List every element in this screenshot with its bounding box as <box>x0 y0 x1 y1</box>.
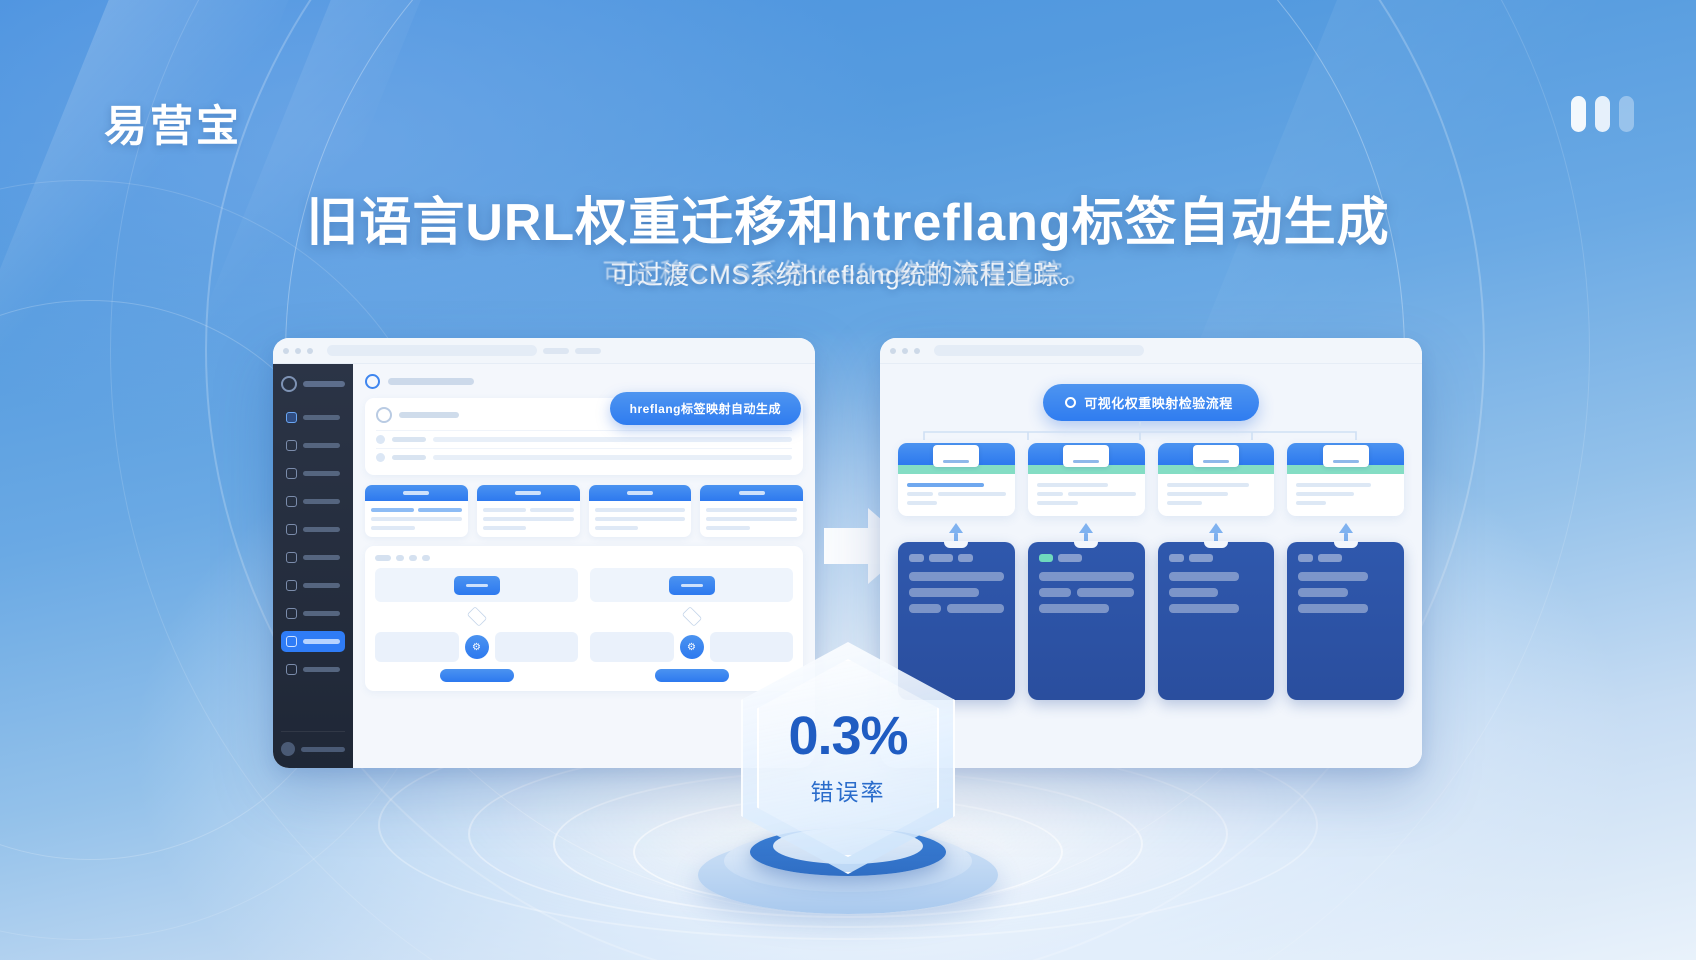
toolbar-placeholder <box>543 348 569 354</box>
row-status-icon <box>376 453 385 462</box>
window-dot-icon <box>295 348 301 354</box>
page-subtitle-ghost: 可迁移CMS系统ttrefte统的流程追踪。 <box>0 253 1696 290</box>
panel-row <box>376 448 792 466</box>
status-badge <box>1169 554 1184 562</box>
right-window-body: 可视化权重映射检验流程 <box>880 364 1422 768</box>
flow-header <box>375 555 793 561</box>
card-notch <box>944 541 968 548</box>
chart-icon <box>286 608 297 619</box>
card-body <box>700 501 803 537</box>
kanban-bottom-card[interactable] <box>1028 542 1145 700</box>
page-title: 旧语言URL权重迁移和htreflang标签自动生成 <box>0 180 1696 255</box>
kanban-column <box>1287 443 1404 700</box>
toolbar-placeholder <box>575 348 601 354</box>
sidebar-item-rules[interactable] <box>281 519 345 540</box>
card-tags <box>1298 554 1393 562</box>
card-header <box>477 485 580 501</box>
rules-icon <box>286 524 297 535</box>
flow-action-pill[interactable] <box>440 669 514 682</box>
section-icon <box>365 374 380 389</box>
sidebar-item-label <box>303 527 340 532</box>
window-title-bar <box>880 338 1422 364</box>
status-badge <box>1298 554 1313 562</box>
kanban-top-card[interactable] <box>1287 443 1404 516</box>
status-badge <box>1058 554 1082 562</box>
status-badge <box>909 554 924 562</box>
card-header <box>589 485 692 501</box>
card-line <box>1298 572 1368 581</box>
link-icon <box>286 468 297 479</box>
window-dot-icon <box>283 348 289 354</box>
panel-icon <box>376 407 392 423</box>
sidebar-item-sync[interactable] <box>281 547 345 568</box>
flow-columns: ⚙ ⚙ <box>375 568 793 682</box>
card-thumbnail-icon <box>1193 445 1239 467</box>
arrow-up-icon <box>1339 523 1353 533</box>
sidebar-brand <box>281 376 345 392</box>
flow-panel: ⚙ ⚙ <box>365 546 803 691</box>
indicator-pill <box>1619 96 1634 132</box>
card-notch <box>1074 541 1098 548</box>
kanban-connector <box>910 422 1370 440</box>
circle-check-icon <box>1065 397 1076 408</box>
site-card[interactable] <box>365 485 468 537</box>
flow-node[interactable] <box>669 576 715 595</box>
metric-label: 错误率 <box>811 773 886 807</box>
kanban-column <box>1158 443 1275 700</box>
card-thumbnail-icon <box>1063 445 1109 467</box>
status-badge <box>958 554 973 562</box>
address-bar[interactable] <box>327 345 537 356</box>
sidebar-user[interactable] <box>281 731 345 756</box>
arrow-up-icon <box>1209 523 1223 533</box>
right-browser-window: 可视化权重映射检验流程 <box>880 338 1422 768</box>
sidebar-brand-label <box>303 381 345 387</box>
process-circle-icon: ⚙ <box>680 635 704 659</box>
left-browser-window: hreflang标签映射自动生成 <box>273 338 815 768</box>
sidebar-item-sites[interactable] <box>281 435 345 456</box>
right-feature-pill-label: 可视化权重映射检验流程 <box>1084 393 1233 412</box>
panel-title <box>399 412 459 418</box>
sidebar-item-reports[interactable] <box>281 603 345 624</box>
window-dot-icon <box>902 348 908 354</box>
process-circle-icon: ⚙ <box>465 635 489 659</box>
card-body <box>477 501 580 537</box>
sidebar-item-label <box>303 471 340 476</box>
sync-icon <box>286 552 297 563</box>
main-heading-row <box>365 374 803 389</box>
panel-row <box>376 430 792 448</box>
flow-box <box>495 632 579 662</box>
row-key <box>392 437 426 442</box>
flow-column-left: ⚙ <box>375 568 578 682</box>
sidebar-item-label <box>303 555 340 560</box>
kanban-column <box>898 443 1015 700</box>
sidebar-item-label <box>303 499 340 504</box>
row-status-icon <box>376 435 385 444</box>
gear-icon <box>286 664 297 675</box>
page-subtitle: 可迁移CMS系统ttrefte统的流程追踪。 可过渡CMS系统hreflang统… <box>0 255 1696 292</box>
sidebar-item-logs[interactable] <box>281 575 345 596</box>
card-line <box>1298 588 1347 597</box>
status-badge <box>1039 554 1053 562</box>
address-bar[interactable] <box>934 345 1144 356</box>
sidebar-item-label <box>303 583 340 588</box>
flow-band <box>375 568 578 602</box>
sidebar-item-tag-mapping[interactable] <box>281 491 345 512</box>
card-line <box>1169 572 1239 581</box>
status-badge <box>929 554 953 562</box>
card-tags <box>1169 554 1264 562</box>
card-thumbnail-icon <box>1323 445 1369 467</box>
site-card-row <box>365 485 803 537</box>
left-feature-pill: hreflang标签映射自动生成 <box>610 392 801 425</box>
kanban-top-card[interactable] <box>1028 443 1145 516</box>
window-dot-icon <box>890 348 896 354</box>
right-feature-pill: 可视化权重映射检验流程 <box>1043 384 1259 421</box>
brand-mark-icon <box>281 376 297 392</box>
sidebar-item-label <box>303 415 340 420</box>
tag-icon <box>286 496 297 507</box>
site-card[interactable] <box>589 485 692 537</box>
corner-indicator <box>1571 96 1634 132</box>
flow-bottom-row: ⚙ <box>375 632 578 662</box>
kanban-bottom-card[interactable] <box>1158 542 1275 700</box>
flow-icon <box>286 636 297 647</box>
sidebar-item-label <box>303 667 340 672</box>
card-header <box>365 485 468 501</box>
row-value <box>433 437 792 442</box>
flow-box <box>710 632 794 662</box>
sidebar-item-settings[interactable] <box>281 659 345 680</box>
window-dot-icon <box>307 348 313 354</box>
card-tags <box>1039 554 1134 562</box>
row-key <box>392 455 426 460</box>
flow-node[interactable] <box>454 576 500 595</box>
card-body <box>589 501 692 537</box>
indicator-pill <box>1595 96 1610 132</box>
decision-diamond-icon <box>681 606 701 626</box>
sidebar-item-overview[interactable] <box>281 407 345 428</box>
site-card[interactable] <box>700 485 803 537</box>
decision-diamond-icon <box>466 606 486 626</box>
kanban-top-card[interactable] <box>898 443 1015 516</box>
card-body <box>365 501 468 537</box>
flow-bottom-row: ⚙ <box>590 632 793 662</box>
card-line <box>1169 588 1218 597</box>
row-value <box>433 455 792 460</box>
sidebar-item-label <box>303 639 340 644</box>
avatar <box>281 742 295 756</box>
card-lines <box>1028 474 1145 516</box>
kanban-bottom-card[interactable] <box>1287 542 1404 700</box>
card-tags <box>909 554 1004 562</box>
sidebar-item-label <box>303 611 340 616</box>
card-line-split <box>909 604 1004 613</box>
flow-column-right: ⚙ <box>590 568 793 682</box>
sidebar-item-label <box>303 443 340 448</box>
card-notch <box>1204 541 1228 548</box>
left-window-body: hreflang标签映射自动生成 <box>273 364 815 768</box>
card-line <box>909 588 979 597</box>
sidebar-item-flow[interactable] <box>281 631 345 652</box>
card-lines <box>1287 474 1404 516</box>
kanban-bottom-card[interactable] <box>898 542 1015 700</box>
window-title-bar <box>273 338 815 364</box>
card-line <box>909 572 1004 581</box>
kanban-board <box>898 443 1404 700</box>
card-line <box>1169 604 1239 613</box>
card-line <box>1039 604 1109 613</box>
card-header <box>700 485 803 501</box>
status-badge <box>1318 554 1342 562</box>
flow-box <box>590 632 674 662</box>
site-card[interactable] <box>477 485 580 537</box>
metric-value: 0.3% <box>788 709 907 763</box>
log-icon <box>286 580 297 591</box>
flow-title <box>375 555 391 561</box>
main-heading-label <box>388 378 474 385</box>
window-dot-icon <box>914 348 920 354</box>
flow-box <box>375 632 459 662</box>
globe-icon <box>286 440 297 451</box>
card-thumbnail-icon <box>933 445 979 467</box>
home-icon <box>286 412 297 423</box>
sidebar-item-url-weight[interactable] <box>281 463 345 484</box>
card-line-split <box>1039 588 1134 597</box>
app-sidebar <box>273 364 353 768</box>
arrow-up-icon <box>1079 523 1093 533</box>
card-lines <box>898 474 1015 516</box>
card-line <box>1039 572 1134 581</box>
card-lines <box>1158 474 1275 516</box>
status-badge <box>1189 554 1213 562</box>
sidebar-user-label <box>301 747 345 752</box>
slide-canvas: 易营宝 旧语言URL权重迁移和htreflang标签自动生成 可迁移CMS系统t… <box>0 0 1696 960</box>
flow-action-pill[interactable] <box>655 669 729 682</box>
brand-logo: 易营宝 <box>104 92 242 154</box>
kanban-column <box>1028 443 1145 700</box>
card-notch <box>1334 541 1358 548</box>
indicator-pill <box>1571 96 1586 132</box>
kanban-top-card[interactable] <box>1158 443 1275 516</box>
flow-band <box>590 568 793 602</box>
card-line <box>1298 604 1368 613</box>
arrow-up-icon <box>949 523 963 533</box>
